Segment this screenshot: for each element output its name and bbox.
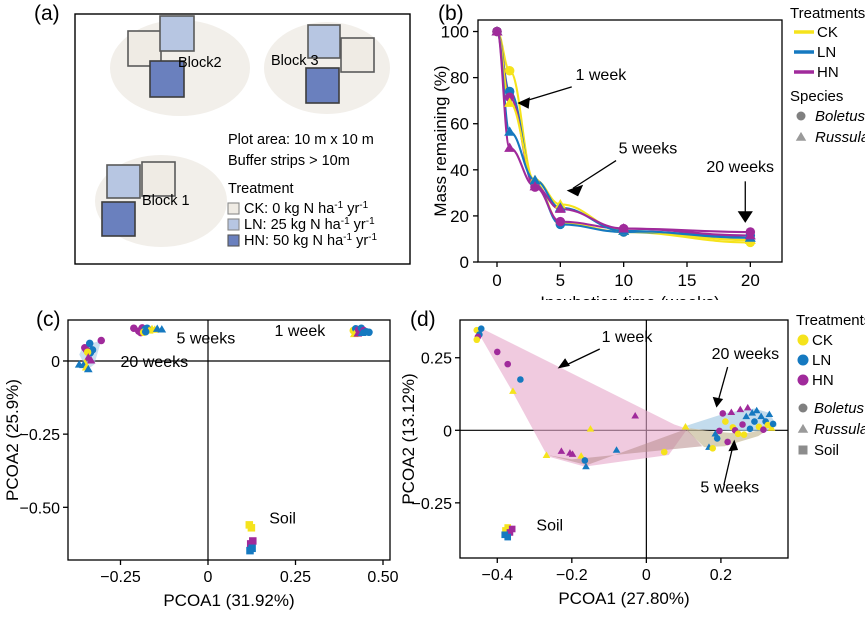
legend-swatch-ck <box>228 203 239 214</box>
datapoint-CK-Boletus <box>741 431 748 438</box>
annotation-5-weeks: 5 weeks <box>619 141 678 158</box>
x-ticklabel: 15 <box>678 271 697 290</box>
datapoint-LN-Boletus <box>86 340 94 348</box>
legend-label-HN: HN <box>812 372 834 389</box>
legend-label-Boletus: Boletus <box>815 108 865 125</box>
panel-c-chart: −0.2500.250.500−0.25−0.50PCOA1 (31.92%)P… <box>0 300 430 632</box>
datapoint-CK-Boletus <box>722 418 729 425</box>
x-ticklabel: −0.4 <box>481 567 513 584</box>
datapoint-CK-Boletus <box>661 449 668 456</box>
legend-marker-Soil <box>799 446 808 455</box>
y-ticklabel: 60 <box>450 115 469 134</box>
y-ticklabel: −0.25 <box>20 427 61 444</box>
x-ticklabel: 0.50 <box>367 569 398 586</box>
datapoint-HN-Boletus <box>556 217 566 227</box>
annotation-1-week: 1 week <box>602 329 654 346</box>
block3-plot-ck <box>341 38 374 72</box>
block1-plot-ck <box>142 162 175 196</box>
block3-label: Block 3 <box>271 53 319 69</box>
annotation-20-weeks: 20 weeks <box>121 354 189 371</box>
y-ticklabel: 0 <box>443 423 452 440</box>
datapoint-CK-Boletus <box>709 445 716 452</box>
datapoint-LN-Boletus <box>751 418 758 425</box>
annotation-soil: Soil <box>536 517 563 534</box>
datapoint-LN-Soil <box>504 534 511 541</box>
panel-d-legend: TreatmentsCKLNHNBoletusRussulaSoil <box>796 312 865 459</box>
panel-a: (a) Block2 Block 3 Block 1 Plot area: 10… <box>0 0 430 290</box>
x-ticklabel: 0 <box>642 567 651 584</box>
datapoint-LN-Soil <box>246 547 254 555</box>
annotation-20-weeks: 20 weeks <box>706 159 774 176</box>
legend-label-Boletus: Boletus <box>814 400 865 417</box>
y-ticklabel: 20 <box>450 207 469 226</box>
svgD-xlabel: PCOA1 (27.80%) <box>558 589 689 608</box>
datapoint-CK-Boletus <box>735 430 742 437</box>
datapoint-HN-Boletus <box>724 439 731 446</box>
x-ticklabel: 5 <box>556 271 565 290</box>
panel-b: (b) 02040608010005101520Incubation time … <box>430 0 865 300</box>
legend-label-hn: HN: 50 kg N ha-1 yr-1 <box>244 232 377 250</box>
datapoint-CK-Boletus <box>473 336 480 343</box>
datapoint-HN-Boletus <box>98 337 106 345</box>
x-ticklabel: −0.25 <box>100 569 141 586</box>
block2-label: Block2 <box>178 55 222 71</box>
legend-title-treatments: Treatments <box>790 5 865 22</box>
y-ticklabel: 0 <box>460 253 469 272</box>
datapoint-HN-Boletus <box>494 349 501 356</box>
buffer-strip-note: Buffer strips > 10m <box>228 153 350 169</box>
legend-title-species: Species <box>790 88 843 105</box>
legend-marker-Boletus <box>797 112 806 121</box>
panel-b-legend: TreatmentsCKLNHNSpeciesBoletusRussula <box>790 5 865 146</box>
annotation-Soil: Soil <box>269 510 296 527</box>
legend-marker-Russula <box>798 424 808 433</box>
block3-plot-hn <box>306 68 339 103</box>
datapoint-CK-Boletus <box>505 66 515 76</box>
treatment-legend-title: Treatment <box>228 181 294 197</box>
block2-plot-ln <box>160 16 194 51</box>
legend-marker-HN <box>798 375 809 386</box>
x-ticklabel: 0 <box>204 569 213 586</box>
legend-label-ln: LN: 25 kg N ha-1 yr-1 <box>244 216 375 234</box>
panel-b-xlabel: Incubation time (weeks) <box>540 293 720 300</box>
annotation-20-weeks: 20 weeks <box>712 346 780 363</box>
legend-label-HN: HN <box>817 64 839 81</box>
y-ticklabel: 40 <box>450 161 469 180</box>
x-ticklabel: 0 <box>492 271 501 290</box>
legend-label-LN: LN <box>817 44 836 61</box>
panel-a-label: (a) <box>34 2 60 26</box>
datapoint-LN-Boletus <box>770 421 777 428</box>
datapoint-HN-Boletus <box>739 421 746 428</box>
datapoint-LN-Boletus <box>365 329 373 337</box>
panel-a-canvas: Block2 Block 3 Block 1 Plot area: 10 m x… <box>0 0 430 290</box>
panel-b-chart: 02040608010005101520Incubation time (wee… <box>430 0 865 300</box>
datapoint-LN-Boletus <box>142 328 150 336</box>
plot-area-note: Plot area: 10 m x 10 m <box>228 132 374 148</box>
annotation-1-week: 1 week <box>275 323 327 340</box>
figure-root: (a) Block2 Block 3 Block 1 Plot area: 10… <box>0 0 865 632</box>
svgC-xlabel: PCOA1 (31.92%) <box>163 591 294 610</box>
panel-d: (d) −0.4−0.200.20.250−0.25PCOA1 (27.80%)… <box>400 300 865 632</box>
annotation-5-weeks: 5 weeks <box>177 330 236 347</box>
legend-label-CK: CK <box>812 332 833 349</box>
legend-label-Russula: Russula <box>814 421 865 438</box>
datapoint-LN-Boletus <box>747 426 754 433</box>
panel-b-label: (b) <box>438 2 464 26</box>
legend-marker-CK <box>798 335 809 346</box>
panel-b-ylabel: Mass remaining (%) <box>431 65 450 216</box>
panel-c-label: (c) <box>36 308 61 332</box>
datapoint-HN-Boletus <box>719 410 726 417</box>
datapoint-LN-Boletus <box>478 325 485 332</box>
x-ticklabel: 20 <box>741 271 760 290</box>
legend-label-LN: LN <box>812 352 831 369</box>
panel-c: (c) −0.2500.250.500−0.25−0.50PCOA1 (31.9… <box>0 300 430 632</box>
legend-marker-LN <box>798 355 809 366</box>
legend-marker-Russula <box>796 132 806 141</box>
svgC-plot-frame <box>68 320 390 560</box>
datapoint-CK-Soil <box>248 524 256 532</box>
y-ticklabel: 0 <box>51 354 60 371</box>
legend-label-Russula: Russula <box>815 129 865 146</box>
legend-marker-Boletus <box>799 404 808 413</box>
datapoint-HN-Boletus <box>504 361 511 368</box>
panel-d-chart: −0.4−0.200.20.250−0.25PCOA1 (27.80%)PCOA… <box>400 300 865 632</box>
annotation-5-weeks: 5 weeks <box>700 480 759 497</box>
legend-swatch-hn <box>228 235 239 246</box>
block1-label: Block 1 <box>142 193 190 209</box>
y-ticklabel: −0.50 <box>20 500 61 517</box>
legend-title-treatments: Treatments <box>796 312 865 329</box>
block1-plot-hn <box>102 202 135 236</box>
x-ticklabel: 10 <box>614 271 633 290</box>
y-ticklabel: 80 <box>450 69 469 88</box>
datapoint-LN-Boletus <box>582 457 589 464</box>
x-ticklabel: 0.2 <box>710 567 732 584</box>
y-ticklabel: 0.25 <box>421 351 452 368</box>
legend-label-Soil: Soil <box>814 442 839 459</box>
legend-label-ck: CK: 0 kg N ha-1 yr-1 <box>244 200 369 218</box>
svgD-ylabel: PCOA2 (13.12%) <box>400 373 418 504</box>
datapoint-LN-Boletus <box>517 376 524 383</box>
legend-label-CK: CK <box>817 24 838 41</box>
block1-plot-ln <box>107 165 140 198</box>
panel-d-label: (d) <box>410 308 436 332</box>
legend-swatch-ln <box>228 219 239 230</box>
annotation-1-week: 1 week <box>576 67 628 84</box>
x-ticklabel: 0.25 <box>280 569 311 586</box>
x-ticklabel: −0.2 <box>556 567 588 584</box>
datapoint-LN-Boletus <box>714 435 721 442</box>
svgC-ylabel: PCOA2 (25.9%) <box>3 379 22 501</box>
datapoint-HN-Boletus <box>716 428 723 435</box>
